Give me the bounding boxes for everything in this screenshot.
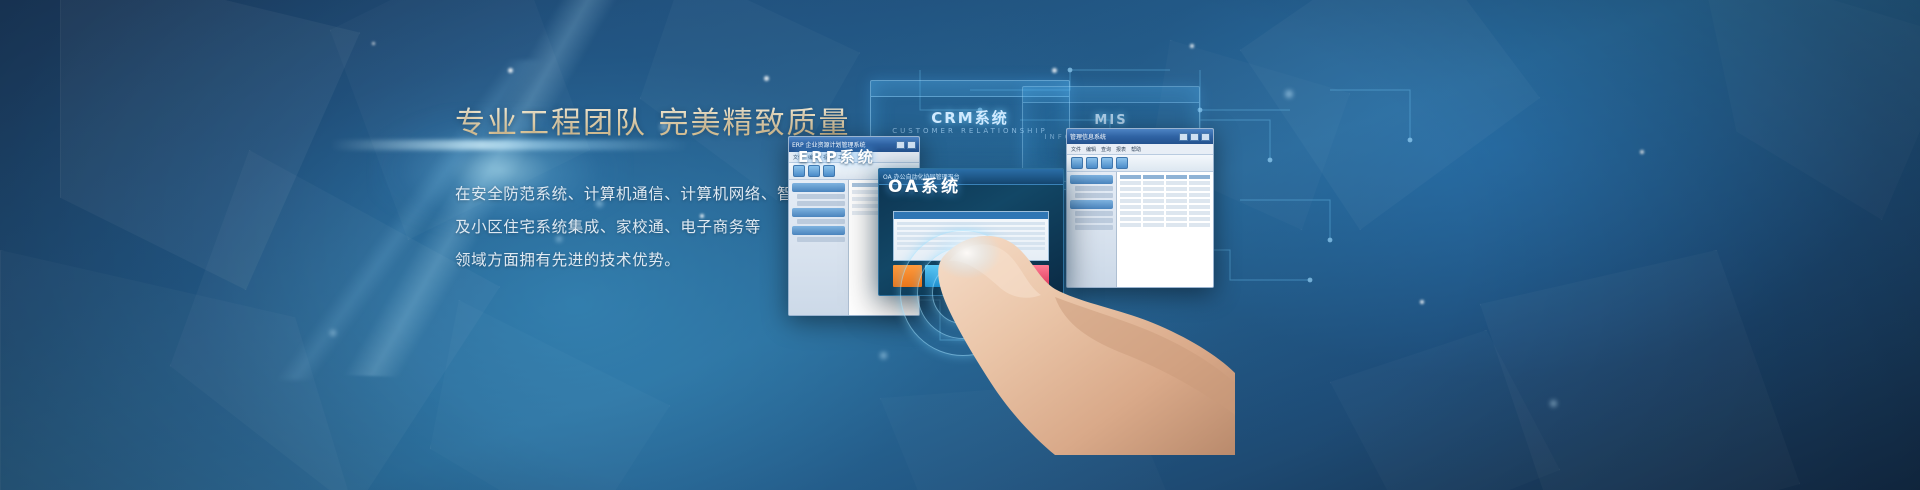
hero-banner: 专业工程团队 完美精致质量 在安全防范系统、计算机通信、计算机网络、智能大厦 及… [0, 0, 1920, 490]
minimize-button[interactable] [896, 141, 905, 149]
menu-item[interactable]: 文件 [1071, 146, 1081, 153]
window-toolbar[interactable] [1067, 155, 1213, 172]
back-window-title: 管理信息系统 [1070, 132, 1177, 141]
close-button[interactable] [1201, 133, 1210, 141]
menu-item[interactable]: 查询 [1101, 146, 1111, 153]
sidebar-group[interactable] [792, 226, 845, 235]
table-row[interactable] [1120, 181, 1210, 185]
table-row[interactable] [1120, 193, 1210, 197]
sidebar-item[interactable] [1075, 193, 1113, 198]
toolbar-icon[interactable] [1101, 157, 1113, 169]
menu-item[interactable]: 报表 [1116, 146, 1126, 153]
table-header-row [1120, 175, 1210, 179]
sidebar-item[interactable] [797, 194, 845, 199]
toolbar-icon[interactable] [1071, 157, 1083, 169]
table-row[interactable] [1120, 199, 1210, 203]
maximize-button[interactable] [1190, 133, 1199, 141]
menu-item[interactable]: 帮助 [1131, 146, 1141, 153]
minimize-button[interactable] [1179, 133, 1188, 141]
table-row[interactable] [1120, 187, 1210, 191]
sidebar-item[interactable] [797, 201, 845, 206]
pointing-hand-icon [905, 205, 1235, 455]
oa-window-label: OA系统 [888, 172, 961, 197]
close-button[interactable] [907, 141, 916, 149]
menu-item[interactable]: 编辑 [1086, 146, 1096, 153]
polygon-shard [1700, 0, 1920, 220]
window-sidebar[interactable] [789, 180, 849, 315]
ghost-titlebar [1023, 87, 1199, 103]
sidebar-item[interactable] [797, 219, 845, 224]
window-menubar[interactable]: 文件 编辑 查询 报表 帮助 [1067, 144, 1213, 155]
toolbar-icon[interactable] [1116, 157, 1128, 169]
sidebar-group[interactable] [792, 208, 845, 217]
sidebar-item[interactable] [1075, 186, 1113, 191]
sidebar-item[interactable] [797, 237, 845, 242]
window-titlebar: 管理信息系统 [1067, 129, 1213, 144]
erp-window-label: ERP系统 [798, 146, 876, 167]
toolbar-icon[interactable] [1086, 157, 1098, 169]
sidebar-group[interactable] [792, 183, 845, 192]
sidebar-group[interactable] [1070, 175, 1113, 184]
mis-window-label: MIS [1023, 113, 1199, 128]
